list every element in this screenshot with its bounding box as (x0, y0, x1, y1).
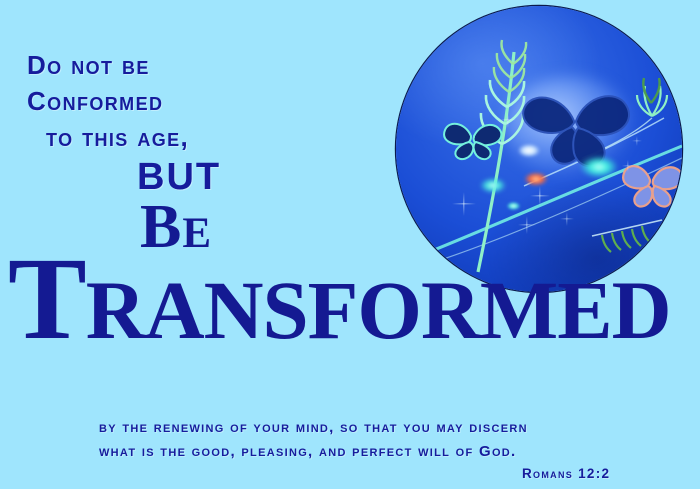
headline-line-1: Do not be (27, 50, 150, 81)
footer-line-1: by the renewing of your mind, so that yo… (99, 419, 528, 436)
butterfly-outline-small (441, 114, 505, 164)
scripture-reference: Romans 12:2 (522, 466, 610, 481)
sparkle-star (530, 186, 550, 206)
glow-orb-cyan-right (580, 156, 618, 178)
emphasis-word-transformed: Transformed (8, 240, 671, 358)
glow-orb-cyan-left (480, 178, 506, 193)
sparkle-star (560, 212, 574, 226)
headline-line-2: Conformed (27, 86, 163, 117)
sparkle-star (452, 192, 476, 216)
sparkle-star (518, 216, 536, 234)
glow-orb-orange (524, 172, 548, 186)
sparkle-star (500, 112, 516, 128)
sparkle-star (622, 160, 634, 172)
glow-orb-white (518, 144, 540, 157)
footer-line-2: what is the good, pleasing, and perfect … (99, 443, 517, 460)
glow-orb-cyan-small (507, 202, 520, 210)
scripture-poster: Do not be Conformed to this age, BUT Be … (0, 0, 700, 489)
headline-line-3: to this age, (46, 122, 189, 153)
sparkle-star (632, 136, 642, 146)
